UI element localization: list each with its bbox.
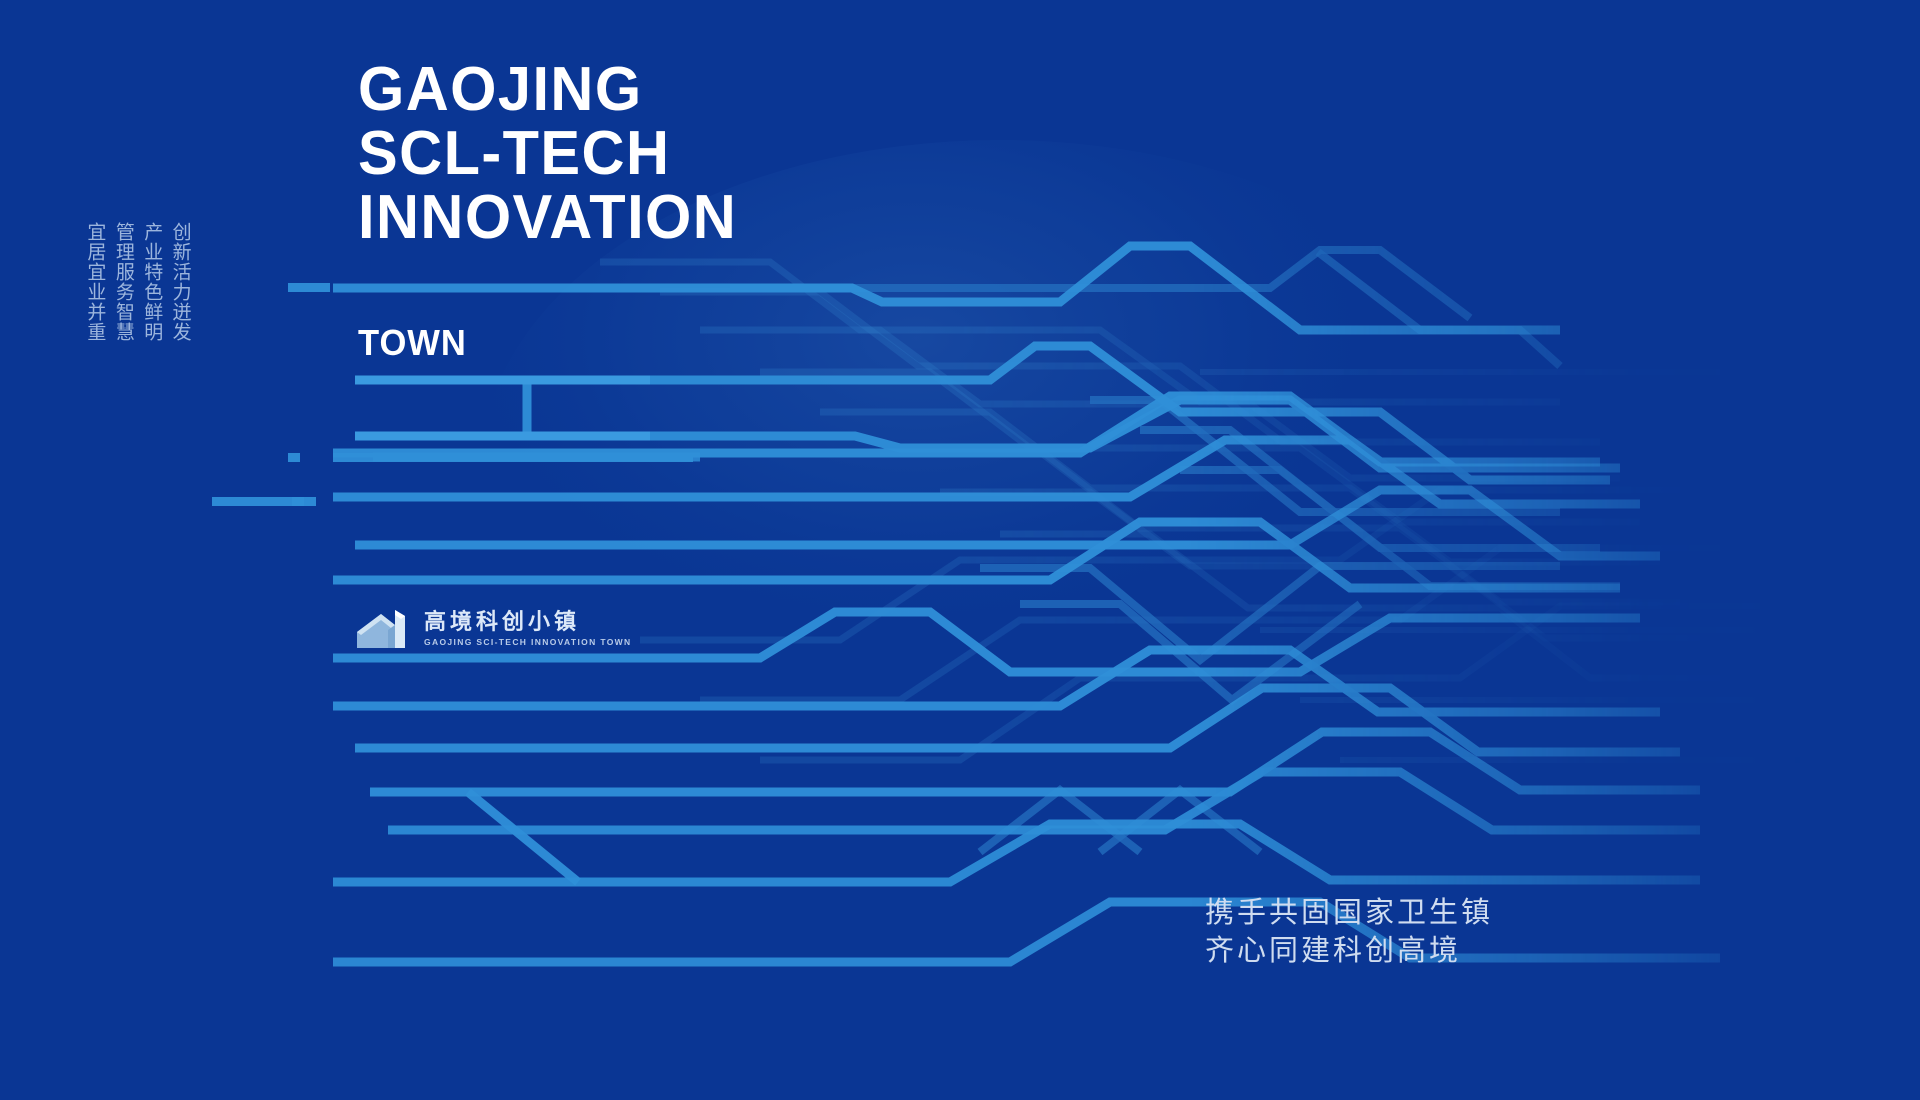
vertical-slogan-column-2: 产业特色鲜明 — [141, 222, 163, 342]
bottom-slogan-line-1: 携手共固国家卫生镇 — [1205, 893, 1493, 931]
poster-canvas: 创新活力迸发 产业特色鲜明 管理服务智慧 宜居宜业并重 GAOJING SCL-… — [0, 0, 1920, 1100]
brand-logo: 高境科创小镇 GAOJING SCI-TECH INNOVATION TOWN — [355, 606, 632, 652]
bottom-slogan-line-2: 齐心同建科创高境 — [1205, 931, 1493, 969]
dash-markers — [212, 283, 330, 506]
logo-english-name: GAOJING SCI-TECH INNOVATION TOWN — [424, 637, 632, 647]
bottom-slogan: 携手共固国家卫生镇 齐心同建科创高境 — [1205, 893, 1493, 969]
circuit-line-artwork — [0, 0, 1920, 1100]
vertical-slogan-column-3: 管理服务智慧 — [112, 222, 134, 342]
headline-line-2: SCL-TECH — [358, 122, 737, 186]
vertical-slogan: 创新活力迸发 产业特色鲜明 管理服务智慧 宜居宜业并重 — [84, 222, 192, 342]
headline-line-3: INNOVATION — [358, 186, 737, 250]
house-building-icon — [355, 606, 411, 652]
headline-line-1: GAOJING — [358, 58, 737, 122]
headline-subline: TOWN — [358, 322, 467, 364]
page-title: GAOJING SCL-TECH INNOVATION — [358, 58, 753, 250]
logo-chinese-name: 高境科创小镇 — [424, 611, 632, 634]
vertical-slogan-column-1: 创新活力迸发 — [169, 222, 191, 342]
vertical-slogan-column-4: 宜居宜业并重 — [84, 222, 106, 342]
